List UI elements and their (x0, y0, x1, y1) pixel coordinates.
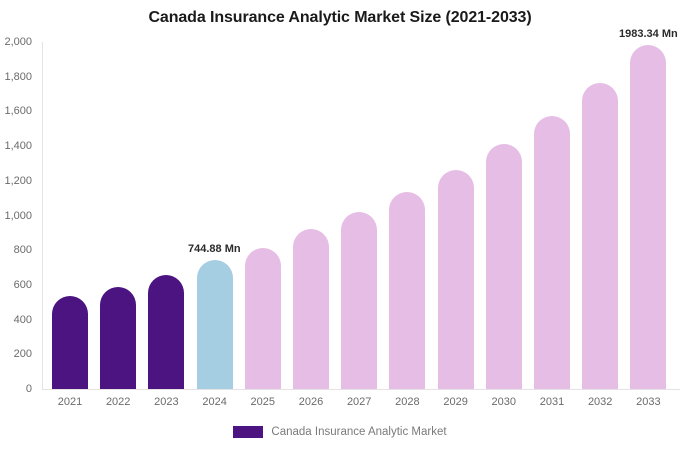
bar-2022[interactable] (100, 287, 136, 389)
x-axis-tick-2023: 2023 (142, 396, 190, 408)
bar-2033[interactable] (630, 45, 666, 389)
y-axis-tick-1000: 1,000 (0, 210, 32, 222)
y-axis-tick-0: 0 (0, 383, 32, 395)
legend-swatch-canada-insurance-analytic-market (233, 426, 263, 438)
x-axis-line (42, 389, 680, 390)
x-axis-tick-2027: 2027 (335, 396, 383, 408)
x-axis-tick-2030: 2030 (480, 396, 528, 408)
bar-2027[interactable] (341, 212, 377, 389)
data-label-2033: 1983.34 Mn (619, 28, 678, 40)
y-axis-tick-800: 800 (0, 244, 32, 256)
plot-area (42, 42, 680, 389)
bar-2032[interactable] (582, 83, 618, 389)
bar-2031[interactable] (534, 116, 570, 389)
y-axis-tick-600: 600 (0, 279, 32, 291)
y-axis-tick-1400: 1,400 (0, 140, 32, 152)
bar-2028[interactable] (389, 192, 425, 389)
chart-title: Canada Insurance Analytic Market Size (2… (0, 9, 680, 27)
x-axis-tick-2026: 2026 (287, 396, 335, 408)
x-axis-tick-2021: 2021 (46, 396, 94, 408)
bar-2024[interactable] (197, 260, 233, 389)
x-axis-tick-2032: 2032 (576, 396, 624, 408)
y-axis-tick-1600: 1,600 (0, 105, 32, 117)
bar-2025[interactable] (245, 248, 281, 389)
x-axis-tick-2029: 2029 (432, 396, 480, 408)
x-axis-tick-2033: 2033 (624, 396, 672, 408)
data-label-2024: 744.88 Mn (188, 243, 241, 255)
x-axis-tick-2025: 2025 (239, 396, 287, 408)
y-axis-tick-1200: 1,200 (0, 175, 32, 187)
bar-2023[interactable] (148, 275, 184, 389)
legend-label-canada-insurance-analytic-market: Canada Insurance Analytic Market (271, 426, 446, 438)
y-axis-tick-2000: 2,000 (0, 36, 32, 48)
bar-chart: Canada Insurance Analytic Market Size (2… (0, 0, 680, 450)
chart-legend: Canada Insurance Analytic Market (0, 426, 680, 438)
y-axis-tick-400: 400 (0, 314, 32, 326)
y-axis-tick-1800: 1,800 (0, 71, 32, 83)
x-axis-tick-2024: 2024 (191, 396, 239, 408)
bar-2030[interactable] (486, 144, 522, 389)
x-axis-tick-2031: 2031 (528, 396, 576, 408)
bar-2029[interactable] (438, 170, 474, 389)
x-axis-tick-2022: 2022 (94, 396, 142, 408)
y-axis-tick-200: 200 (0, 348, 32, 360)
x-axis-tick-2028: 2028 (383, 396, 431, 408)
bar-2021[interactable] (52, 296, 88, 389)
bar-2026[interactable] (293, 229, 329, 389)
